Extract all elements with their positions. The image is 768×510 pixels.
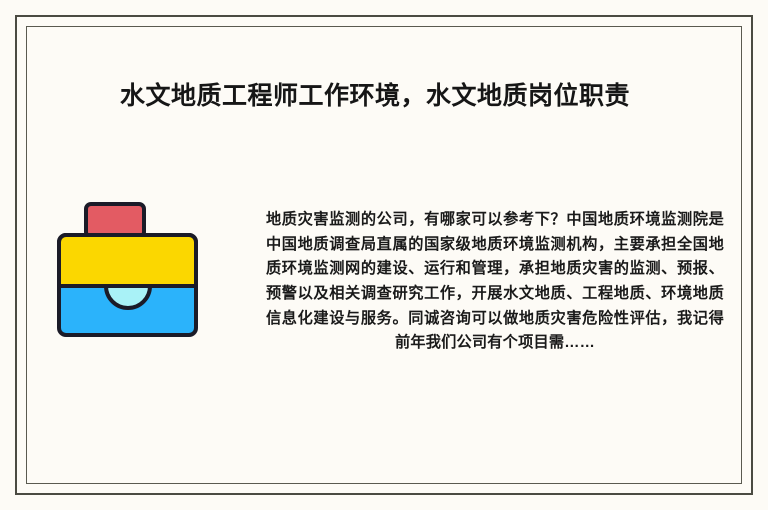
briefcase-handle	[86, 204, 144, 237]
page-title: 水文地质工程师工作环境，水文地质岗位职责	[120, 80, 680, 113]
briefcase-illustration	[55, 196, 200, 341]
document-page: 水文地质工程师工作环境，水文地质岗位职责 地质灾害监测的公司，有哪家可以参考下？…	[0, 0, 768, 510]
article-paragraph: 地质灾害监测的公司，有哪家可以参考下？中国地质环境监测院是中国地质调查局直属的国…	[266, 208, 724, 356]
briefcase-top-band	[59, 235, 196, 286]
